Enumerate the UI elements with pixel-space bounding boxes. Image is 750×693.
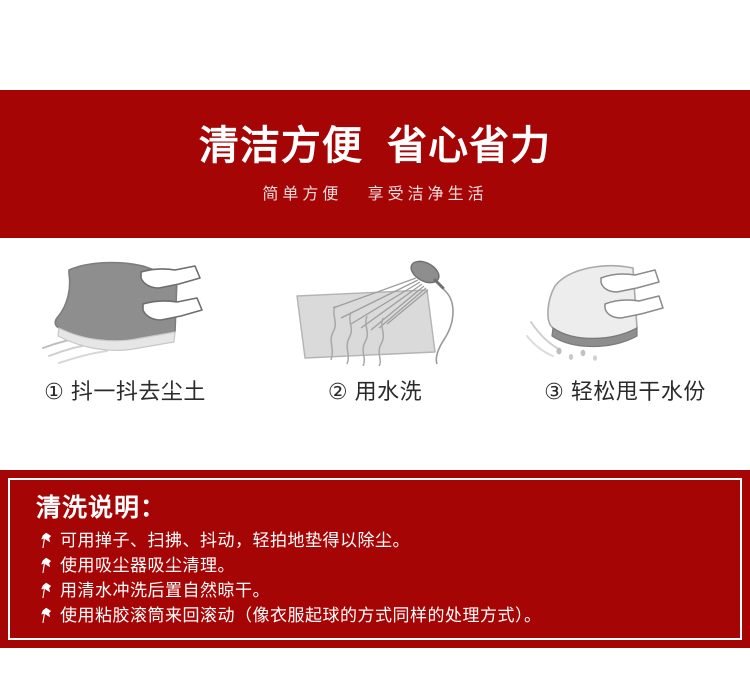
care-list-item: 使用粘胶滚筒来回滚动（像衣服起球的方式同样的处理方式）。 — [36, 603, 740, 628]
care-list-item: 使用吸尘器吸尘清理。 — [36, 553, 740, 578]
hero-title: 清洁方便 省心省力 — [199, 124, 551, 168]
steps-strip: ① 抖一抖去尘土 ② 用水洗 — [0, 238, 750, 466]
shaking-mat-icon — [25, 256, 225, 366]
pushpin-icon — [36, 603, 56, 628]
step-item-1: ① 抖一抖去尘土 — [0, 238, 250, 466]
care-list-item: 可用掸子、扫拂、抖动，轻拍地垫得以除尘。 — [36, 528, 740, 553]
step-caption-1: ① 抖一抖去尘土 — [44, 374, 206, 406]
care-item-text: 使用吸尘器吸尘清理。 — [60, 553, 235, 578]
wringing-mat-icon — [525, 256, 725, 366]
step-item-2: ② 用水洗 — [250, 238, 500, 466]
hero-subtitle: 简单方便 享受洁净生活 — [262, 180, 487, 204]
top-white-spacer — [0, 0, 750, 90]
step-item-3: ③ 轻松甩干水份 — [500, 238, 750, 466]
bottom-white-spacer — [0, 648, 750, 693]
step-caption-2: ② 用水洗 — [328, 374, 422, 406]
pushpin-icon — [36, 528, 56, 553]
step-caption-3: ③ 轻松甩干水份 — [544, 374, 706, 406]
care-item-text: 用清水冲洗后置自然晾干。 — [60, 578, 270, 603]
care-instruction-list: 可用掸子、扫拂、抖动，轻拍地垫得以除尘。 使用吸尘器吸尘清理。 — [36, 528, 740, 628]
pushpin-icon — [36, 553, 56, 578]
shower-washing-mat-icon — [275, 256, 475, 366]
care-panel-heading: 清洗说明： — [36, 488, 740, 524]
care-list-item: 用清水冲洗后置自然晾干。 — [36, 578, 740, 603]
care-item-text: 可用掸子、扫拂、抖动，轻拍地垫得以除尘。 — [60, 528, 410, 553]
care-instructions-panel: 清洗说明： 可用掸子、扫拂、抖动，轻拍地垫得以除尘。 — [0, 470, 750, 648]
care-panel-border: 清洗说明： 可用掸子、扫拂、抖动，轻拍地垫得以除尘。 — [8, 478, 742, 640]
pushpin-icon — [36, 578, 56, 603]
hero-banner: 清洁方便 省心省力 简单方便 享受洁净生活 — [0, 90, 750, 238]
care-item-text: 使用粘胶滚筒来回滚动（像衣服起球的方式同样的处理方式）。 — [60, 603, 542, 628]
